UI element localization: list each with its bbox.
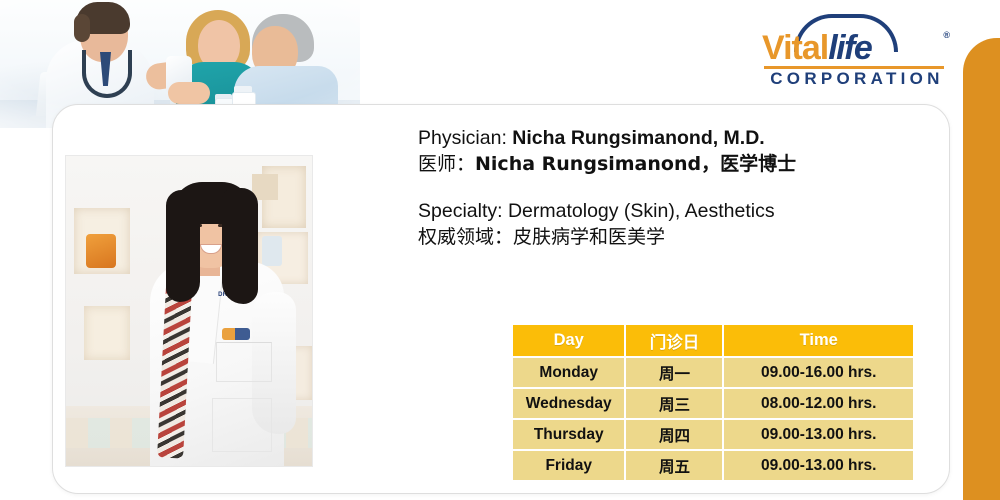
- portrait-bottle-d: [262, 236, 282, 266]
- schedule-day-cn: 周三: [626, 389, 722, 418]
- physician-name-en-line: Physician: Nicha Rungsimanond, M.D.: [418, 126, 938, 151]
- logo-word-vital: Vital: [762, 29, 828, 67]
- slide-canvas: Vitallife ® CORPORATION DR. NICHA: [0, 0, 1000, 500]
- schedule-time: 08.00-12.00 hrs.: [724, 389, 913, 418]
- schedule-header-day: Day: [513, 325, 624, 356]
- banner-hand-lower: [168, 82, 210, 104]
- stethoscope-icon: [82, 50, 132, 98]
- physician-label-cn: 医师：: [418, 153, 475, 175]
- schedule-day-cn: 周一: [626, 358, 722, 387]
- table-row: Thursday 周四 09.00-13.00 hrs.: [513, 420, 913, 449]
- schedule-time: 09.00-13.00 hrs.: [724, 451, 913, 480]
- logo-wordmark: Vitallife: [762, 30, 948, 66]
- physician-info: Physician: Nicha Rungsimanond, M.D. 医师：N…: [418, 126, 938, 250]
- specialty-value-en: Dermatology (Skin), Aesthetics: [508, 200, 775, 222]
- physician-name-cn: Nicha Rungsimanond，医学博士: [475, 153, 796, 175]
- schedule-table: Day 门诊日 Time Monday 周一 09.00-16.00 hrs. …: [511, 323, 915, 482]
- schedule-day-cn: 周五: [626, 451, 722, 480]
- specialty-en-line: Specialty: Dermatology (Skin), Aesthetic…: [418, 199, 938, 224]
- physician-name-en: Nicha Rungsimanond, M.D.: [512, 127, 764, 149]
- vitallife-logo: Vitallife ® CORPORATION: [762, 14, 948, 84]
- specialty-label-en: Specialty:: [418, 200, 503, 222]
- table-row: Monday 周一 09.00-16.00 hrs.: [513, 358, 913, 387]
- portrait-hair-left: [166, 190, 200, 302]
- schedule-time: 09.00-16.00 hrs.: [724, 358, 913, 387]
- table-row: Friday 周五 09.00-13.00 hrs.: [513, 451, 913, 480]
- schedule-day: Monday: [513, 358, 624, 387]
- portrait-coat-emblem: [222, 328, 250, 340]
- portrait-shelf-b: [84, 306, 130, 360]
- schedule-day: Friday: [513, 451, 624, 480]
- schedule-time: 09.00-13.00 hrs.: [724, 420, 913, 449]
- physician-name-cn-line: 医师：Nicha Rungsimanond，医学博士: [418, 151, 938, 177]
- schedule-header-day-cn: 门诊日: [626, 325, 722, 356]
- table-row: Wednesday 周三 08.00-12.00 hrs.: [513, 389, 913, 418]
- right-accent-band: [963, 38, 1000, 500]
- portrait-coat-pocket-upper: [216, 342, 272, 382]
- logo-subtitle: CORPORATION: [766, 70, 948, 88]
- schedule-day: Wednesday: [513, 389, 624, 418]
- specialty-cn-line: 权威领域：皮肤病学和医美学: [418, 224, 938, 250]
- schedule-header-time: Time: [724, 325, 913, 356]
- portrait-product-jar: [86, 234, 116, 268]
- portrait-hair-right: [222, 188, 258, 304]
- portrait-coat-pocket-lower: [212, 398, 272, 452]
- schedule-day: Thursday: [513, 420, 624, 449]
- logo-word-life: life: [828, 29, 871, 67]
- schedule-day-cn: 周四: [626, 420, 722, 449]
- physician-label-en: Physician:: [418, 127, 507, 149]
- physician-portrait: DR. NICHA: [66, 156, 312, 466]
- registered-trademark-icon: ®: [943, 30, 950, 40]
- schedule-header-row: Day 门诊日 Time: [513, 325, 913, 356]
- info-spacer: [418, 177, 938, 199]
- banner-doctor-hair-side: [74, 14, 90, 42]
